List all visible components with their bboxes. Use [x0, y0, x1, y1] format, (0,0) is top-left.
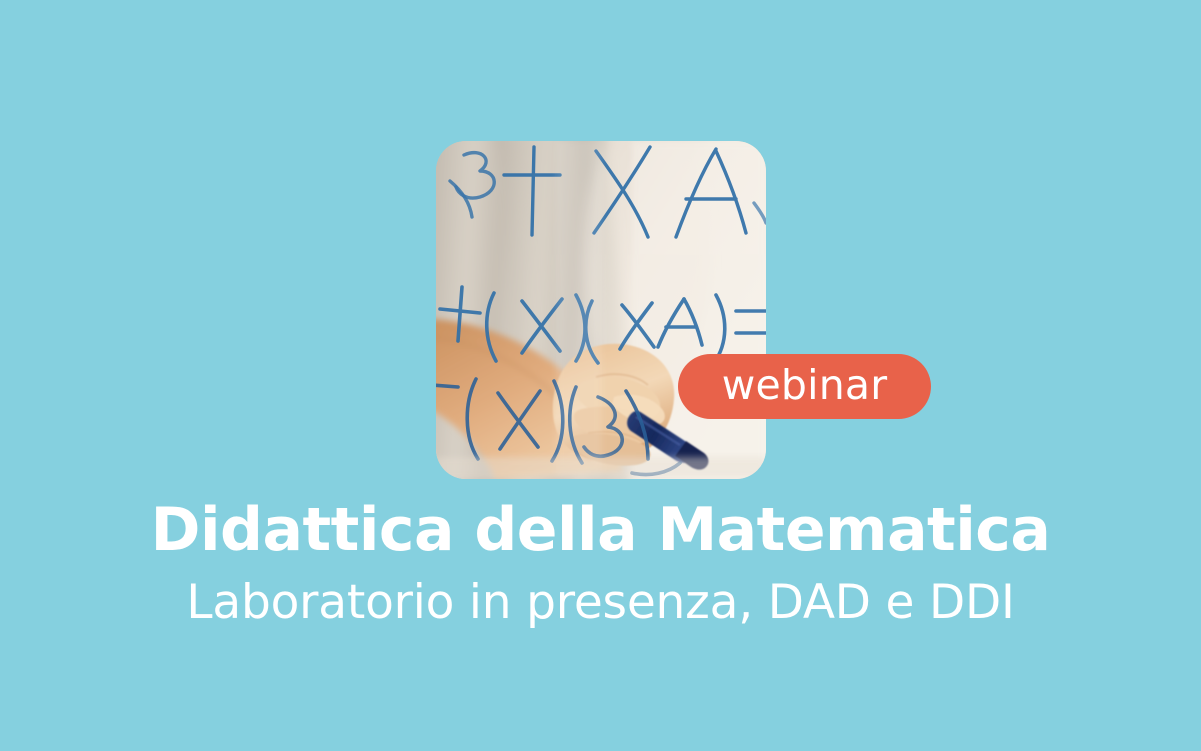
webinar-badge-label: webinar — [722, 365, 888, 409]
heading-block: Didattica della Matematica Laboratorio i… — [0, 498, 1201, 628]
poster-canvas: webinar Didattica della Matematica Labor… — [0, 0, 1201, 751]
webinar-thumbnail-image — [436, 141, 766, 479]
whiteboard-photo-illustration — [436, 141, 766, 479]
webinar-badge: webinar — [678, 354, 931, 419]
page-subtitle: Laboratorio in presenza, DAD e DDI — [0, 577, 1201, 629]
page-title: Didattica della Matematica — [0, 498, 1201, 563]
